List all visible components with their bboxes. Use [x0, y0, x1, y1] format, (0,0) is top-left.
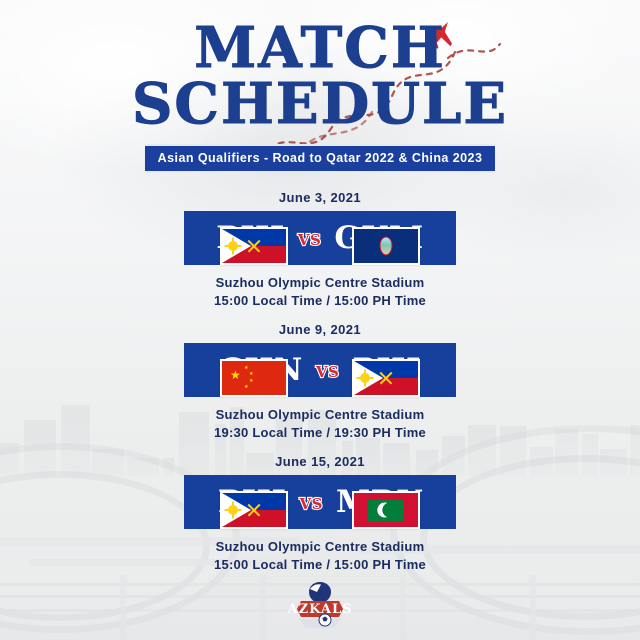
match-venue-block: Suzhou Olympic Centre Stadium 19:30 Loca… — [0, 406, 640, 442]
china-flag: ★ ★ ★ ★ ★ — [220, 359, 288, 397]
azkals-crest-icon: AZKALS — [277, 579, 363, 633]
title-line-1: MATCH — [0, 22, 640, 76]
match-date: June 3, 2021 — [0, 190, 640, 205]
venue-time: 15:00 Local Time / 15:00 PH Time — [0, 556, 640, 574]
poster-header: MATCH SCHEDULE Asian Qualifiers - Road t… — [0, 22, 640, 173]
vs-label: VS — [298, 233, 321, 248]
match-date: June 15, 2021 — [0, 454, 640, 469]
match-row: June 15, 2021 PHI VS MDV Suzhou Olympic … — [0, 454, 640, 574]
venue-name: Suzhou Olympic Centre Stadium — [0, 406, 640, 424]
brand-wordmark: AZKALS — [287, 602, 353, 617]
guam-flag — [352, 227, 420, 265]
venue-time: 19:30 Local Time / 19:30 PH Time — [0, 424, 640, 442]
match-date: June 9, 2021 — [0, 322, 640, 337]
philippines-flag — [220, 227, 288, 265]
vs-label: VS — [299, 497, 322, 512]
match-venue-block: Suzhou Olympic Centre Stadium 15:00 Loca… — [0, 274, 640, 310]
maldives-flag — [352, 491, 420, 529]
match-row: June 9, 2021 ★ ★ ★ ★ ★ CHN VS PHI Suzhou… — [0, 322, 640, 442]
venue-name: Suzhou Olympic Centre Stadium — [0, 538, 640, 556]
subtitle-banner: Asian Qualifiers - Road to Qatar 2022 & … — [145, 144, 496, 173]
philippines-flag — [220, 491, 288, 529]
title-line-2: SCHEDULE — [0, 78, 640, 132]
venue-name: Suzhou Olympic Centre Stadium — [0, 274, 640, 292]
vs-label: VS — [316, 365, 339, 380]
venue-time: 15:00 Local Time / 15:00 PH Time — [0, 292, 640, 310]
match-venue-block: Suzhou Olympic Centre Stadium 15:00 Loca… — [0, 538, 640, 574]
match-schedule-poster: MATCH SCHEDULE Asian Qualifiers - Road t… — [0, 0, 640, 640]
philippines-flag — [352, 359, 420, 397]
match-row: June 3, 2021 PHI VS GUM Suzhou Olympic C… — [0, 190, 640, 310]
